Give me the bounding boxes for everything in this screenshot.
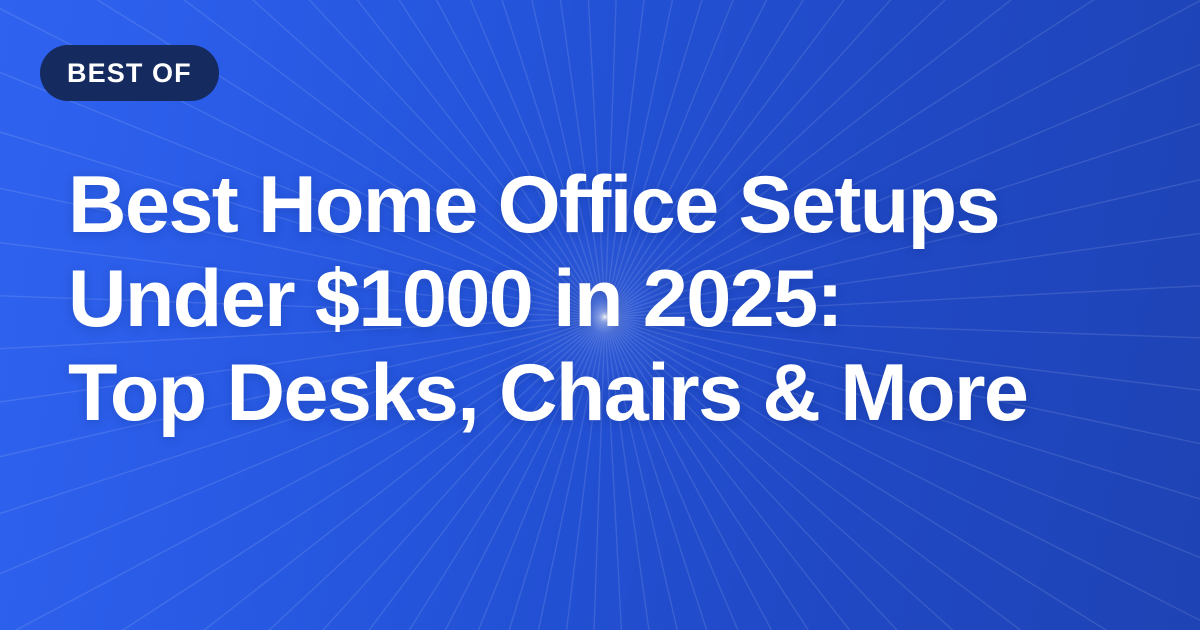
title-line-3: Top Desks, Chairs & More [68,346,1158,440]
best-of-badge: BEST OF [40,45,219,101]
page-title: Best Home Office Setups Under $1000 in 2… [68,158,1158,440]
promo-banner: BEST OF Best Home Office Setups Under $1… [0,0,1200,630]
badge-label: BEST OF [67,60,192,87]
title-line-2: Under $1000 in 2025: [68,252,1158,346]
title-line-1: Best Home Office Setups [68,158,1158,252]
